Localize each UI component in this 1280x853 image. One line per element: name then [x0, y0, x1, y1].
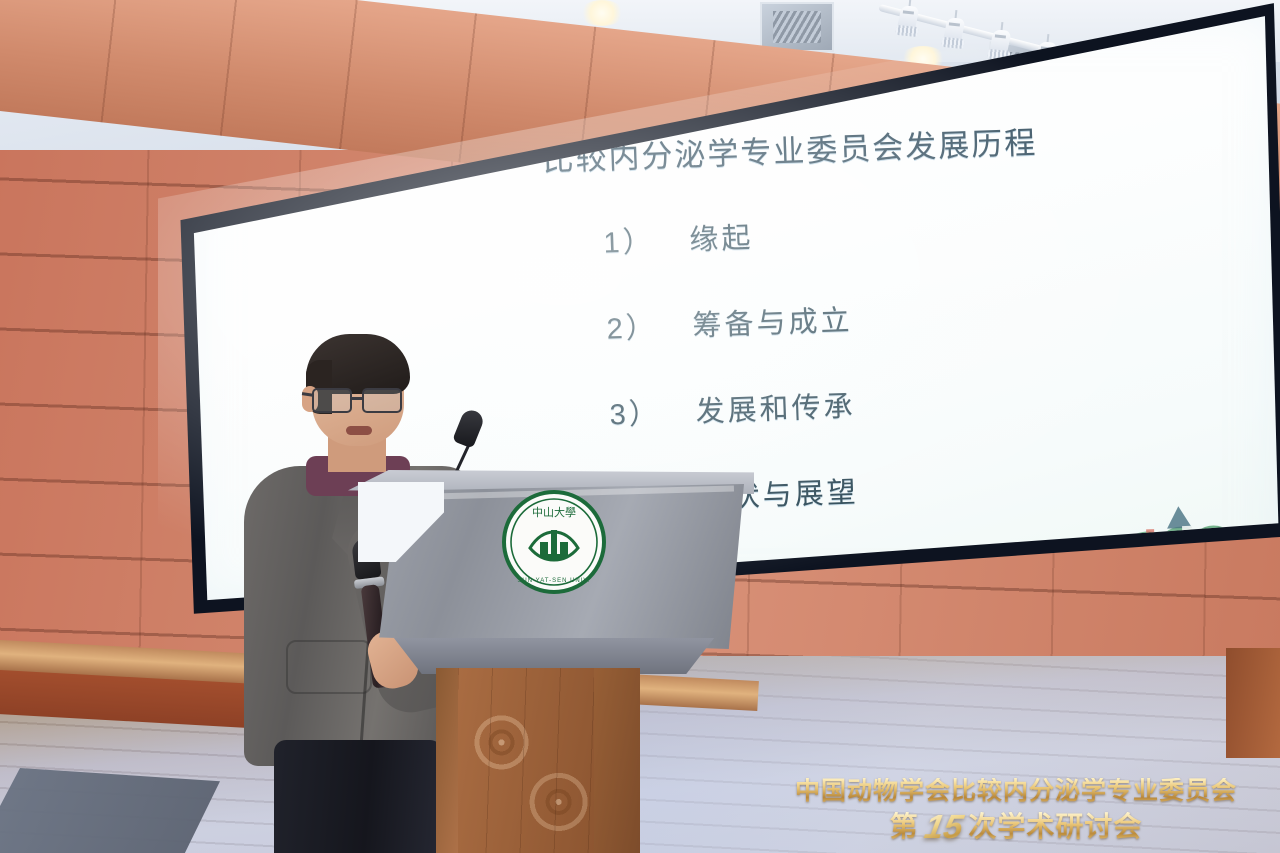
caption-line-1: 中国动物学会比较内分泌学专业委员会 — [770, 778, 1262, 805]
svg-text:SUN YAT-SEN UNIVERSITY: SUN YAT-SEN UNIVERSITY — [234, 114, 335, 124]
list-item-label: 发展和传承 — [695, 391, 856, 429]
sun-yat-sen-university-emblem-icon: 中山大學 SUN YAT-SEN UNIV. — [500, 490, 608, 594]
podium-carve-grooves — [458, 668, 594, 853]
list-item-number: 1） — [603, 217, 690, 262]
speaker-mouth — [346, 426, 372, 435]
list-item: 1）缘起 — [603, 201, 1124, 262]
caption-line-2: 第 15 次学术研讨会 — [770, 809, 1262, 845]
list-item-number: 3） — [609, 388, 696, 433]
sun-yat-sen-university-emblem-icon: 中 山 大 学 SUN YAT-SEN UNIVERSITY — [218, 42, 349, 135]
lectern-podium: 中山大學 SUN YAT-SEN UNIV. — [348, 470, 754, 853]
podium-carved-panel — [458, 668, 594, 853]
svg-text:中山大學: 中山大學 — [532, 505, 576, 519]
eyeglasses-icon — [310, 388, 410, 414]
list-item: 3）发展和传承 — [609, 373, 1130, 434]
conference-hall-photo: 中 山 大 学 SUN YAT-SEN UNIVERSITY 比较内分泌学专业委… — [0, 0, 1280, 853]
svg-text:SUN YAT-SEN UNIV.: SUN YAT-SEN UNIV. — [517, 578, 590, 584]
slide-title: 比较内分泌学专业委员会发展历程 — [542, 115, 1103, 180]
list-item-number: 2） — [606, 303, 693, 348]
svg-text:中 山 大 学: 中 山 大 学 — [260, 54, 305, 68]
list-item-label: 缘起 — [689, 222, 754, 256]
floor-mat — [0, 768, 220, 853]
caption-ordinal-number: 15 — [921, 809, 965, 845]
list-item: 2）筹备与成立 — [606, 287, 1127, 348]
wall-corner-column — [1226, 648, 1280, 758]
caption-ordinal-prefix: 第 — [890, 812, 919, 842]
list-item-label: 筹备与成立 — [692, 305, 853, 343]
event-caption: 中国动物学会比较内分泌学专业委员会 第 15 次学术研讨会 — [770, 778, 1262, 845]
caption-line-2-suffix: 次学术研讨会 — [968, 812, 1142, 842]
